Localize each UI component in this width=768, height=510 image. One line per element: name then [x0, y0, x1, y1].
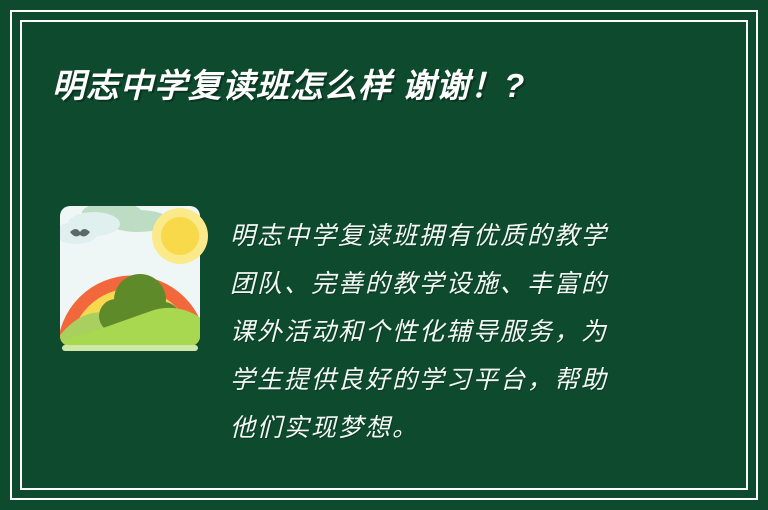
answer-body-text: 明志中学复读班拥有优质的教学 团队、完善的教学设施、丰富的 课外活动和个性化辅导… — [230, 212, 682, 452]
page-title: 明志中学复读班怎么样 谢谢！? — [52, 66, 692, 106]
qa-card: 明志中学复读班怎么样 谢谢！? — [0, 0, 768, 510]
body-line: 明志中学复读班拥有优质的教学 — [230, 212, 682, 260]
body-line: 团队、完善的教学设施、丰富的 — [230, 260, 682, 308]
sun-icon — [152, 208, 208, 264]
body-line: 课外活动和个性化辅导服务，为 — [230, 308, 682, 356]
body-line: 他们实现梦想。 — [230, 404, 682, 452]
rainbow-landscape-illustration — [56, 200, 212, 355]
illustration-base-bar — [62, 345, 198, 351]
body-line: 学生提供良好的学习平台，帮助 — [230, 356, 682, 404]
